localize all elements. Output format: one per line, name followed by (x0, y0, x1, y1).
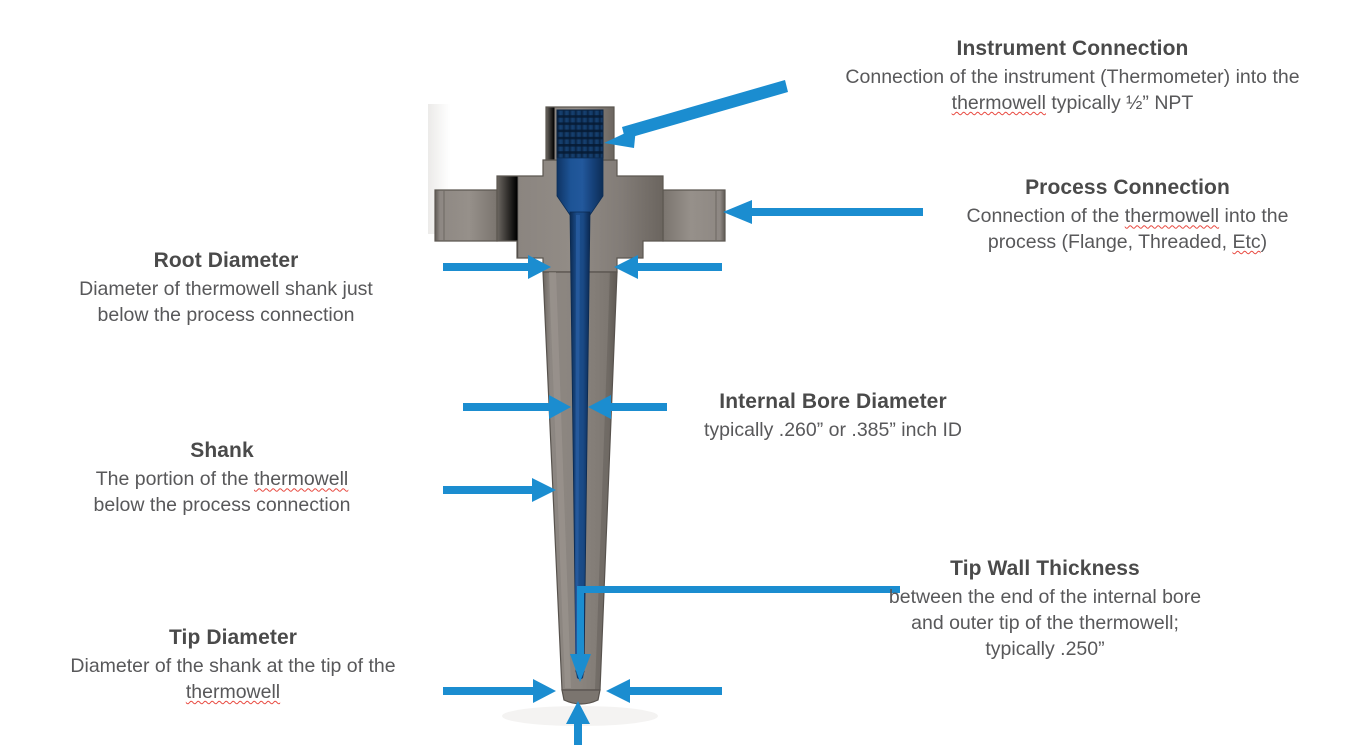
callout-title: Tip Wall Thickness (830, 556, 1260, 582)
arrow-tip-diameter-left (443, 679, 556, 703)
text-line-2a: process (Flange, Threaded, (988, 231, 1233, 253)
callout-body: typically .260” or .385” inch ID (668, 418, 998, 444)
callout-body: Diameter of thermowell shank just below … (10, 277, 442, 328)
arrow-instrument-connection (604, 80, 788, 148)
arrow-root-diameter-left (443, 255, 551, 279)
text-line-1c: into the (1219, 205, 1288, 227)
text-line-1a: The portion of the (96, 468, 254, 490)
callout-body: Connection of the instrument (Thermomete… (790, 65, 1355, 116)
callout-title: Process Connection (900, 175, 1355, 201)
arrow-bore-diameter-left (463, 395, 571, 419)
text-line-2: and outer tip of the thermowell; (911, 612, 1179, 634)
misspelled-word-thermowell: thermowell (186, 681, 280, 703)
npt-thread-bore (557, 110, 603, 158)
callout-title: Internal Bore Diameter (668, 389, 998, 415)
misspelled-word-thermowell: thermowell (1125, 205, 1219, 227)
text-line-2: below the process connection (94, 494, 351, 516)
arrow-shank (443, 478, 556, 502)
text-line-1: Connection of the instrument (Thermomete… (845, 66, 1299, 88)
misspelled-word-thermowell: thermowell (254, 468, 348, 490)
callout-title: Instrument Connection (790, 36, 1355, 62)
callout-body: Connection of the thermowell into the pr… (900, 204, 1355, 255)
text-line-2b: typically ½” NPT (1046, 92, 1193, 114)
callout-tip-wall-thickness: Tip Wall Thickness between the end of th… (830, 556, 1260, 662)
text-line-1: Diameter of thermowell shank just (79, 278, 373, 300)
callout-internal-bore-diameter: Internal Bore Diameter typically .260” o… (668, 389, 998, 444)
callout-process-connection: Process Connection Connection of the the… (900, 175, 1355, 256)
callout-root-diameter: Root Diameter Diameter of thermowell sha… (10, 248, 442, 329)
callout-title: Root Diameter (10, 248, 442, 274)
arrow-tip-diameter-right (606, 679, 722, 703)
callout-body: Diameter of the shank at the tip of the … (8, 654, 458, 705)
diagram-canvas: Instrument Connection Connection of the … (0, 0, 1355, 745)
text-line-2c: ) (1261, 231, 1268, 253)
text-line-3: typically .250” (985, 638, 1104, 660)
callout-body: between the end of the internal bore and… (830, 585, 1260, 662)
arrow-process-connection (723, 200, 923, 224)
text-line-1: between the end of the internal bore (889, 586, 1201, 608)
text-line-1a: Connection of the (967, 205, 1125, 227)
callout-instrument-connection: Instrument Connection Connection of the … (790, 36, 1355, 117)
misspelled-word-etc: Etc (1232, 231, 1260, 253)
text-line-2: below the process connection (98, 304, 355, 326)
callout-title: Tip Diameter (8, 625, 458, 651)
callout-body: The portion of the thermowell below the … (22, 467, 422, 518)
misspelled-word-thermowell: thermowell (952, 92, 1046, 114)
callout-title: Shank (22, 438, 422, 464)
callout-tip-diameter: Tip Diameter Diameter of the shank at th… (8, 625, 458, 706)
callout-shank: Shank The portion of the thermowell belo… (22, 438, 422, 519)
text-line-1: Diameter of the shank at the tip of the (70, 655, 395, 677)
